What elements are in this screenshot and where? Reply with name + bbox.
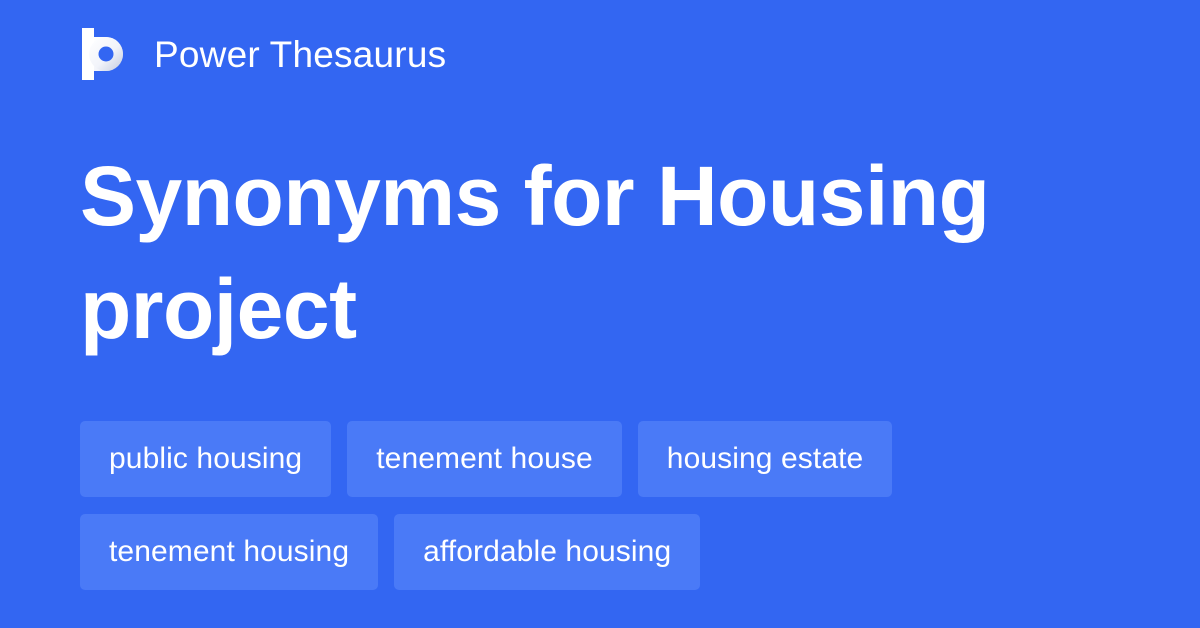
synonym-chip[interactable]: housing estate [638, 421, 893, 497]
synonym-chip[interactable]: tenement house [347, 421, 622, 497]
synonym-chip-list: public housing tenement house housing es… [80, 421, 1120, 590]
brand-header[interactable]: Power Thesaurus [80, 28, 446, 80]
page-title: Synonyms for Housing project [80, 140, 1080, 366]
synonym-chip[interactable]: affordable housing [394, 514, 700, 590]
power-thesaurus-b-logo-icon [80, 28, 132, 80]
synonym-chip[interactable]: tenement housing [80, 514, 378, 590]
brand-name: Power Thesaurus [154, 36, 446, 73]
synonym-chip[interactable]: public housing [80, 421, 331, 497]
